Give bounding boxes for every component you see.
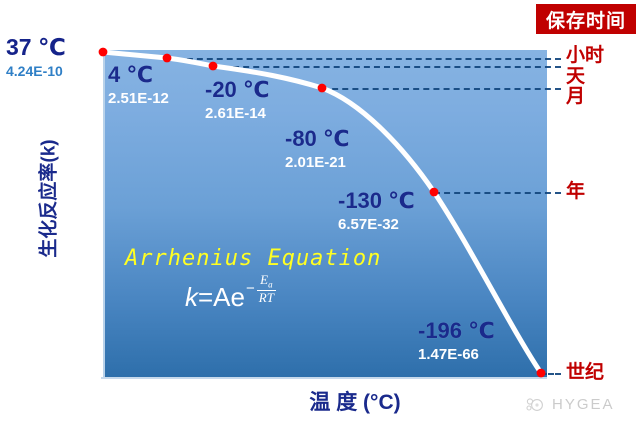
equation-formula: k=Ae−EaRT [185, 282, 276, 314]
curve-layer [0, 0, 640, 427]
storage-time-badge: 保存时间 [536, 4, 636, 34]
point-label-4: 4 ℃ 2.51E-12 [108, 64, 169, 106]
y-axis-title: 生化反应率(k) [34, 124, 61, 274]
point-temp-4: 4 ℃ [108, 64, 169, 86]
point-label-n20: -20 ℃ 2.61E-14 [205, 79, 270, 121]
data-point-n80 [318, 84, 327, 93]
equation-numerator-E: E [260, 272, 268, 287]
point-temp-n80: -80 ℃ [285, 128, 350, 150]
equation-minus: − [246, 280, 255, 297]
hygea-logo-icon [525, 397, 547, 413]
point-label-37: 37 ℃ 4.24E-10 [6, 36, 66, 78]
data-point-n20 [209, 62, 218, 71]
point-value-4: 2.51E-12 [108, 91, 169, 106]
time-label-century: 世纪 [566, 363, 604, 382]
data-point-4 [163, 54, 172, 63]
x-axis-title: 温 度 (°C) [270, 386, 440, 416]
point-value-n196: 1.47E-66 [418, 347, 495, 362]
point-value-n130: 6.57E-32 [338, 217, 415, 232]
data-point-n196 [537, 369, 546, 378]
data-point-n130 [430, 188, 439, 197]
watermark: HYGEA [525, 396, 615, 413]
time-label-hour: 小时 [566, 46, 604, 65]
equation-numerator-sub: a [268, 280, 273, 290]
point-value-37: 4.24E-10 [6, 64, 66, 78]
chart-canvas: 37 ℃ 4.24E-10 4 ℃ 2.51E-12 -20 ℃ 2.61E-1… [0, 0, 640, 427]
equation-k: k [185, 282, 198, 313]
time-label-day: 天 [566, 67, 585, 86]
point-temp-37: 37 ℃ [6, 36, 66, 59]
equation-title: Arrhenius Equation [125, 246, 381, 271]
point-label-n196: -196 ℃ 1.47E-66 [418, 320, 495, 362]
equation-denominator: RT [257, 290, 276, 305]
equation-fraction: EaRT [257, 273, 276, 305]
point-label-n80: -80 ℃ 2.01E-21 [285, 128, 350, 170]
time-label-year: 年 [566, 182, 585, 201]
point-value-n80: 2.01E-21 [285, 155, 350, 170]
point-value-n20: 2.61E-14 [205, 106, 270, 121]
time-label-month: 月 [566, 87, 585, 106]
equation-numerator: Ea [258, 273, 274, 290]
watermark-text: HYGEA [552, 396, 615, 413]
point-temp-n196: -196 ℃ [418, 320, 495, 342]
point-temp-n130: -130 ℃ [338, 190, 415, 212]
equation-ae: =Ae [198, 282, 245, 313]
equation-exponent: −EaRT [246, 273, 276, 305]
point-label-n130: -130 ℃ 6.57E-32 [338, 190, 415, 232]
point-temp-n20: -20 ℃ [205, 79, 270, 101]
data-point-37 [99, 48, 108, 57]
